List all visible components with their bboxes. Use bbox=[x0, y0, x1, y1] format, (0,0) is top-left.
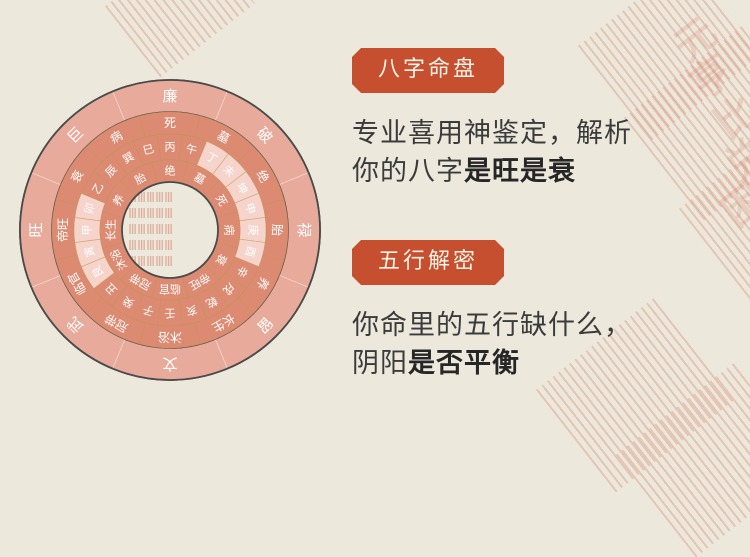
bazi-chart[interactable]: 廉破禄留文武旺巨死墓绝胎养长生沐浴冠带临官帝旺衰病丙午丁未坤申庚酉辛戌乾亥壬子癸… bbox=[20, 80, 320, 380]
chart-segment-label: 临官 bbox=[159, 283, 181, 297]
text-run-bold: 是旺是衰 bbox=[464, 156, 576, 187]
chart-segment-label: 帝旺 bbox=[55, 218, 70, 242]
chart-segment-label: 甲 bbox=[81, 225, 94, 236]
text-run: 你命里的五行缺什么， bbox=[352, 310, 632, 341]
chart-segment-label: 廉 bbox=[162, 87, 177, 105]
section-wuxing: 五行解密 你命里的五行缺什么， 阴阳是否平衡 bbox=[352, 240, 632, 384]
text-run: 专业喜用神鉴定，解析 bbox=[352, 118, 632, 149]
chart-segment-label: 绝 bbox=[165, 164, 176, 178]
chart-segment-label: 病 bbox=[223, 225, 237, 236]
chart-segment-label: 壬 bbox=[165, 307, 176, 320]
section-wuxing-line-2: 阴阳是否平衡 bbox=[352, 345, 632, 383]
text-run: 阴阳 bbox=[352, 348, 408, 379]
section-badge-bazi[interactable]: 八字命盘 bbox=[352, 48, 504, 93]
chart-segment-label: 长生 bbox=[104, 219, 118, 241]
chart-segment-label: 文 bbox=[162, 355, 177, 373]
content-column: 八字命盘 专业喜用神鉴定，解析 你的八字是旺是衰 五行解密 你命里的五行缺什么，… bbox=[352, 0, 750, 489]
page-root: 元 亨 比 兑 困 廉破禄留文武旺巨死墓绝胎养长生沐浴冠带临官帝旺衰病丙午丁未坤… bbox=[0, 0, 750, 489]
chart-segment-label: 庚 bbox=[247, 225, 261, 236]
chart-segment-label: 死 bbox=[164, 116, 176, 130]
chart-segment-label: 旺 bbox=[27, 222, 45, 237]
text-run: 你的八字 bbox=[352, 156, 464, 187]
chart-segment-label: 丙 bbox=[165, 141, 176, 154]
section-bazi-line-1: 专业喜用神鉴定，解析 bbox=[352, 115, 632, 153]
text-run-bold: 是否平衡 bbox=[408, 348, 520, 379]
chart-segment-label: 胎 bbox=[270, 224, 284, 236]
section-bazi: 八字命盘 专业喜用神鉴定，解析 你的八字是旺是衰 bbox=[352, 48, 632, 192]
chart-segment-label: 禄 bbox=[295, 222, 313, 237]
watermark-hatch-6 bbox=[105, 0, 255, 77]
section-wuxing-line-1: 你命里的五行缺什么， bbox=[352, 307, 632, 345]
section-badge-wuxing[interactable]: 五行解密 bbox=[352, 240, 504, 285]
chart-segment-label: 沐浴 bbox=[158, 330, 182, 344]
section-bazi-line-2: 你的八字是旺是衰 bbox=[352, 153, 632, 191]
